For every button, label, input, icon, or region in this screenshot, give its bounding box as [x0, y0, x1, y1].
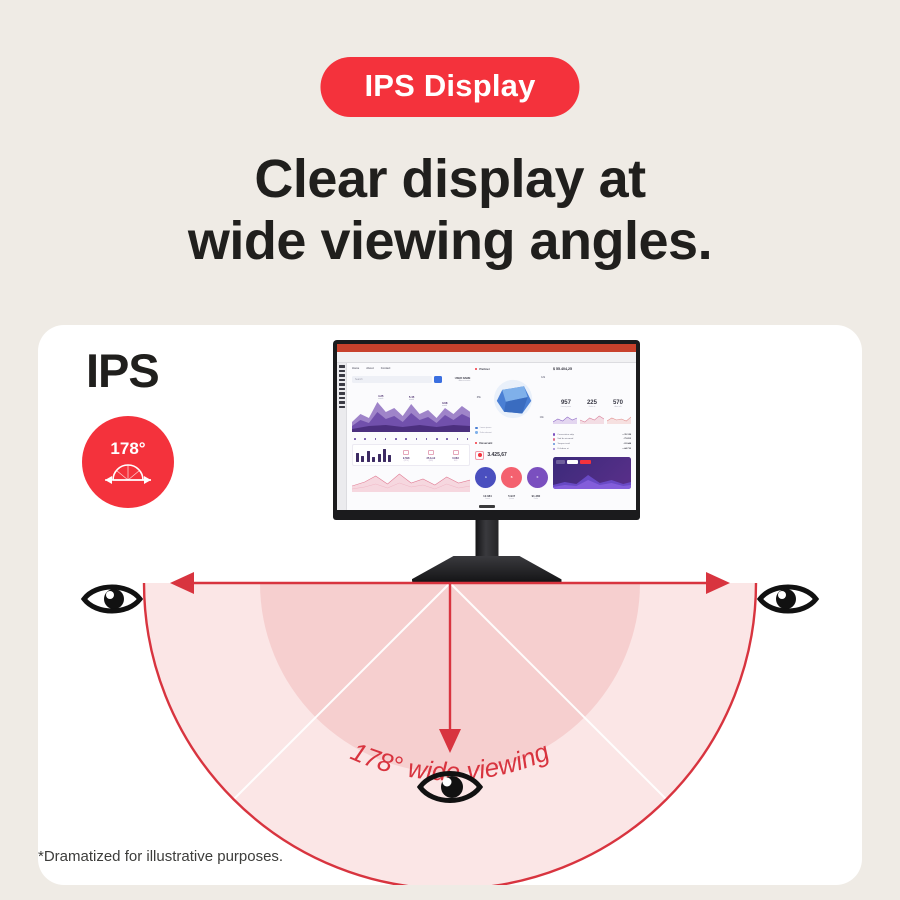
chart-point-label: 4.25 month	[378, 394, 383, 400]
kpi-item: 570 Amet elit	[605, 400, 631, 408]
rail-chip	[339, 388, 345, 391]
kpi-item: 0.683 10,9	[445, 450, 467, 462]
dark-widget	[553, 457, 631, 489]
blob-label: 12k	[541, 376, 545, 379]
grouped-bar-chart	[553, 377, 631, 393]
legend-dot	[364, 438, 366, 440]
list-item: Consectetur adip + 35.128	[553, 433, 631, 435]
kpi-item: 25.1mil (805)	[420, 450, 442, 462]
monitor-bezel: Home About Contact Search USER NAME	[333, 340, 640, 520]
list-bullet	[553, 433, 555, 435]
deserunt-value-row: 3.425,67	[475, 451, 548, 460]
infographic-page: IPS Display Clear display at wide viewin…	[0, 0, 900, 900]
rail-chip	[339, 397, 345, 400]
list-label: Sed do eiusmod	[557, 438, 621, 440]
chart-point-label: 5.45 month	[409, 395, 414, 401]
circle-kpi-badge: A	[475, 467, 496, 488]
kpi-icon	[428, 450, 434, 455]
pill-accent[interactable]	[580, 460, 591, 464]
legend-dot	[475, 431, 477, 433]
kpi-row: 957 Lorem ipsum 225 Dolor sit 570	[553, 400, 631, 408]
viewing-angle-fan-icon	[99, 459, 157, 485]
viewing-angle-value: 178°	[110, 440, 145, 457]
viewing-angle-badge: 178°	[82, 416, 174, 508]
circle-kpi-badge: C	[527, 467, 548, 488]
legend-dot	[354, 438, 356, 440]
ips-label: IPS	[80, 347, 230, 394]
legend-dot	[416, 438, 418, 440]
circle-kpi-caption: Ipsum	[500, 498, 524, 500]
circle-kpi-group: A B C	[475, 467, 548, 488]
ips-display-badge: IPS Display	[320, 57, 579, 117]
dashboard-ribbon	[337, 352, 636, 363]
bar-panel: 9.598 (21%) 25.1mil (805)	[352, 444, 470, 466]
dashboard-column-right: $ 55.404,25 95	[553, 367, 631, 506]
list-bullet	[553, 438, 555, 440]
bar	[378, 454, 381, 462]
dashboard-column-left: Home About Contact Search USER NAME	[352, 367, 470, 506]
kpi-item: 225 Dolor sit	[579, 400, 605, 408]
nav-item-about[interactable]: About	[366, 367, 374, 370]
dashboard-nav: Home About Contact	[352, 367, 470, 370]
dark-widget-pills	[556, 460, 628, 464]
eye-icon	[415, 763, 485, 811]
total-value: $ 55.404,25	[553, 367, 631, 371]
chart-legend-dots	[352, 438, 470, 440]
circle-kpi-caption: Lorem	[475, 498, 499, 500]
rail-chip	[339, 374, 345, 377]
eye-icon	[80, 577, 144, 621]
metric-list: Consectetur adip + 35.128 Sed do eiusmod…	[553, 431, 631, 450]
partner-blob-chart: 12k 35k 14k	[475, 375, 548, 423]
list-value: + 35.128	[622, 434, 631, 436]
footnote: *Dramatized for illustrative purposes.	[38, 848, 283, 865]
circle-kpi-badge: B	[501, 467, 522, 488]
search-button[interactable]	[434, 376, 442, 383]
circle-kpi-item: B	[501, 467, 522, 488]
list-item: Sed do eiusmod - 75.813	[553, 438, 631, 440]
list-value: + 44.710	[622, 448, 631, 450]
dashboard-search-row: Search USER NAME Administrator	[352, 376, 470, 383]
illustration-card: IPS 178°	[38, 325, 862, 885]
blob-label: 35k	[477, 396, 481, 399]
kpi-item: 9.598 (21%)	[395, 450, 417, 462]
ips-info-block: IPS 178°	[80, 347, 230, 508]
kpi-item: 957 Lorem ipsum	[553, 400, 579, 408]
search-input[interactable]: Search	[352, 376, 432, 383]
bar	[361, 456, 364, 462]
eye-icon	[756, 577, 820, 621]
list-value: - 22.044	[623, 443, 631, 445]
list-item: Ut labore et + 44.710	[553, 448, 631, 450]
legend-dot	[405, 438, 407, 440]
bar	[372, 457, 375, 462]
rail-chip	[339, 406, 345, 409]
list-label: Tempor incid	[557, 443, 621, 445]
user-role: Administrator	[444, 380, 470, 382]
purple-area-chart: 4.25 month 5.45 month 3.68	[352, 392, 470, 432]
headline-line-1: Clear display at	[0, 148, 900, 210]
bar	[367, 451, 370, 462]
circle-kpi-caption: Dolor	[524, 498, 548, 500]
bar-kpi-group: 9.598 (21%) 25.1mil (805)	[395, 450, 466, 462]
deserunt-value: 3.425,67	[487, 452, 506, 458]
legend-dot	[375, 438, 377, 440]
brand-logo-mark	[479, 505, 495, 508]
rail-chip	[339, 379, 345, 382]
list-bullet	[553, 443, 555, 445]
legend-dot	[385, 438, 387, 440]
bar	[356, 453, 359, 462]
legend-dot	[457, 438, 459, 440]
rail-chip	[339, 365, 345, 368]
dashboard-body: Home About Contact Search USER NAME	[347, 363, 636, 510]
pink-area-chart	[352, 470, 470, 492]
bar	[388, 455, 391, 462]
partner-title: Partner	[475, 367, 548, 371]
legend-label: Lorem ipsum	[480, 427, 492, 429]
rail-chip	[339, 401, 345, 404]
rail-chip	[339, 383, 345, 386]
deserunt-title: Deserunt	[475, 441, 548, 445]
dashboard-column-middle: Partner 12k 35k	[475, 367, 548, 506]
sparkline	[580, 414, 604, 424]
kpi-sub: (805)	[420, 460, 442, 462]
dashboard-mockup: Home About Contact Search USER NAME	[337, 344, 636, 510]
headline-line-2: wide viewing angles.	[0, 210, 900, 272]
kpi-sub: (21%)	[395, 460, 417, 462]
kpi-sub: 10,9	[445, 460, 467, 462]
monitor-illustration: Home About Contact Search USER NAME	[333, 340, 640, 520]
page-title: Clear display at wide viewing angles.	[0, 148, 900, 272]
legend-dot	[426, 438, 428, 440]
list-value: - 75.813	[623, 438, 631, 440]
circle-kpi-item: A	[475, 467, 496, 488]
legend-dot	[467, 438, 469, 440]
monitor-screen: Home About Contact Search USER NAME	[337, 344, 636, 510]
rail-chip	[339, 370, 345, 373]
dashboard-left-rail	[337, 363, 347, 510]
legend-dot	[395, 438, 397, 440]
legend-dot	[475, 427, 477, 429]
euro-badge-icon	[475, 451, 484, 460]
kpi-icon	[403, 450, 409, 455]
bar-chart	[356, 448, 391, 462]
bar	[383, 449, 386, 462]
pill-active[interactable]	[567, 460, 578, 464]
nav-item-home[interactable]: Home	[352, 367, 359, 370]
kpi-caption: Dolor sit	[579, 406, 605, 408]
kpi-caption: Amet elit	[605, 406, 631, 408]
kpi-caption: Lorem ipsum	[553, 406, 579, 408]
dashboard-titlebar	[337, 344, 636, 352]
legend-dot	[436, 438, 438, 440]
rail-chip	[339, 392, 345, 395]
nav-item-contact[interactable]: Contact	[381, 367, 391, 370]
sparkline	[553, 414, 577, 424]
chart-point-label: 3.68 month	[442, 401, 447, 407]
sparkline	[607, 414, 631, 424]
list-label: Consectetur adip	[557, 434, 620, 436]
kpi-icon	[453, 450, 459, 455]
legend-dot	[446, 438, 448, 440]
list-bullet	[553, 448, 555, 450]
pill[interactable]	[556, 460, 565, 464]
circle-kpi-item: C	[527, 467, 548, 488]
list-label: Ut labore et	[557, 448, 620, 450]
blob-label: 14k	[540, 416, 544, 419]
list-item: Tempor incid - 22.044	[553, 443, 631, 445]
legend-label: Dolor sitamet	[480, 432, 492, 434]
